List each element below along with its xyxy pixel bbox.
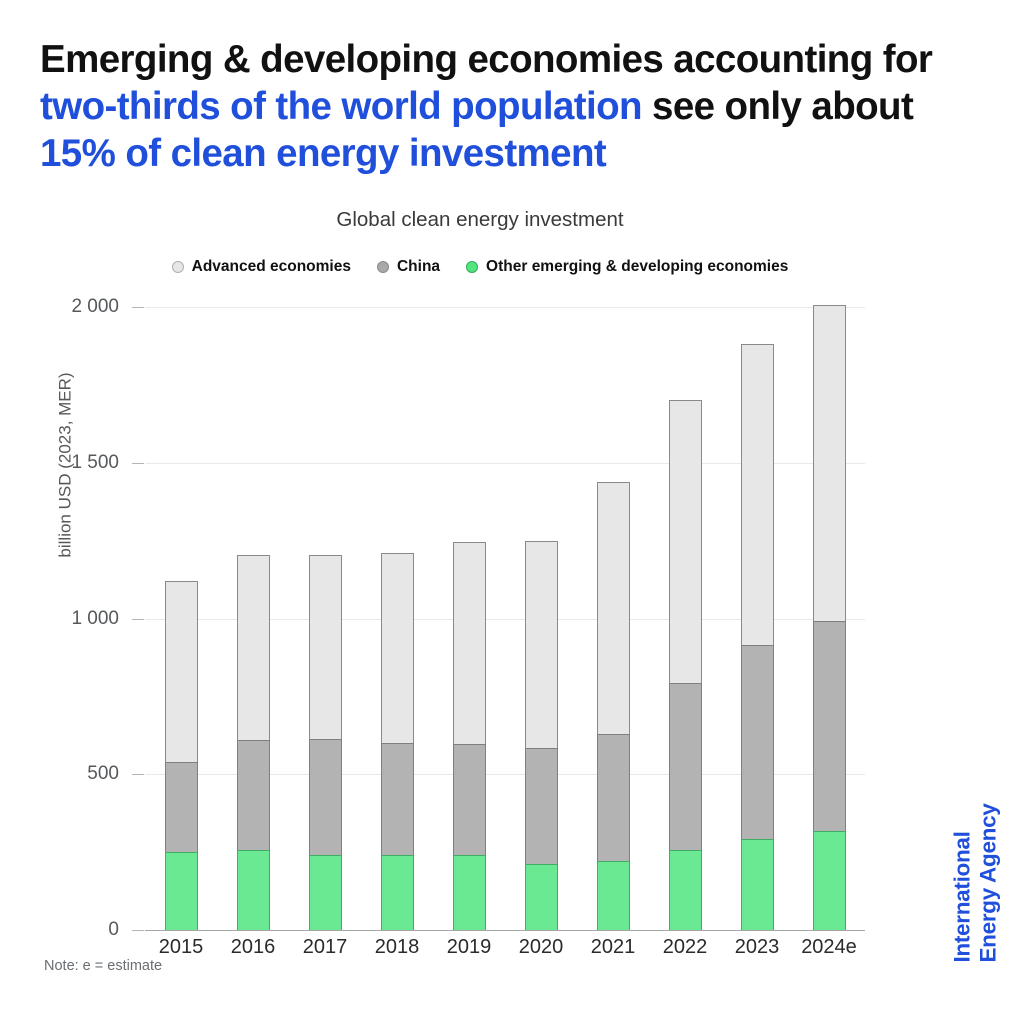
bar-segment-china[interactable] [741,645,774,840]
bar-segment-advanced-economies[interactable] [669,400,702,685]
bar-stack[interactable] [453,542,486,930]
bar-segment-advanced-economies[interactable] [813,305,846,621]
legend-item-other-emerging-developing-economies[interactable]: Other emerging & developing economies [466,258,788,276]
bar-segment-china[interactable] [381,743,414,856]
bar-segment-advanced-economies[interactable] [381,553,414,744]
bar-segment-advanced-economies[interactable] [165,581,198,763]
y-axis-tick-label: 2 000 [71,296,119,318]
x-axis-tick-label: 2019 [447,936,492,959]
x-axis-tick-labels: 2015201620172018201920202021202220232024… [145,936,865,970]
x-axis-line [145,930,865,932]
bar-segment-china[interactable] [669,683,702,851]
page-title: Emerging & developing economies accounti… [40,36,985,177]
x-axis-tick-label: 2024e [801,936,857,959]
bar-segment-other-emerging-developing[interactable] [813,831,846,931]
y-axis-tick-labels: 05001 0001 5002 000 [0,307,132,930]
bar-segment-other-emerging-developing[interactable] [309,855,342,931]
brand-line-2: Energy Agency [976,803,1002,962]
chart-bars [145,307,865,930]
x-axis-tick-label: 2016 [231,936,276,959]
legend-label: Advanced economies [192,258,351,276]
bar-segment-china[interactable] [525,748,558,865]
y-axis-tick-mark [132,619,144,620]
x-axis-tick-label: 2015 [159,936,204,959]
y-axis-tick-mark [132,463,144,464]
bar-segment-china[interactable] [309,739,342,856]
bar-stack[interactable] [237,555,270,930]
headline-highlight-1: two-thirds of the world population [40,85,642,128]
legend-item-advanced-economies[interactable]: Advanced economies [172,258,351,276]
bar-segment-other-emerging-developing[interactable] [741,839,774,931]
bar-stack[interactable] [597,482,630,930]
legend-swatch-icon [377,261,389,273]
legend-label: China [397,258,440,276]
y-axis-tick-mark [132,774,144,775]
bar-stack[interactable] [381,553,414,930]
bar-segment-other-emerging-developing[interactable] [669,850,702,931]
chart-legend: Advanced economies China Other emerging … [0,258,960,276]
bar-stack[interactable] [309,555,342,930]
bar-segment-advanced-economies[interactable] [597,482,630,735]
y-axis-tick-mark [132,307,144,308]
x-axis-tick-label: 2022 [663,936,708,959]
bar-segment-other-emerging-developing[interactable] [453,855,486,931]
bar-segment-advanced-economies[interactable] [237,555,270,742]
bar-segment-china[interactable] [813,621,846,833]
bar-segment-china[interactable] [165,762,198,852]
headline-part-2: see only about [642,85,913,128]
bar-segment-advanced-economies[interactable] [525,541,558,748]
chart-plot-area [145,307,865,930]
bar-segment-other-emerging-developing[interactable] [597,861,630,931]
x-axis-tick-label: 2020 [519,936,564,959]
bar-segment-advanced-economies[interactable] [309,555,342,740]
bar-segment-china[interactable] [237,740,270,851]
y-axis-tick-mark [132,930,144,931]
bar-segment-other-emerging-developing[interactable] [237,850,270,931]
bar-segment-advanced-economies[interactable] [741,344,774,646]
y-axis-tick-label: 1 000 [71,608,119,630]
y-axis-tick-label: 500 [87,763,119,785]
bar-segment-china[interactable] [453,744,486,856]
bar-stack[interactable] [669,400,702,930]
headline-highlight-2: 15% of clean energy investment [40,132,606,175]
legend-swatch-icon [172,261,184,273]
bar-stack[interactable] [165,581,198,930]
bar-stack[interactable] [741,344,774,930]
x-axis-tick-label: 2021 [591,936,636,959]
bar-segment-china[interactable] [597,734,630,862]
infographic-page: Emerging & developing economies accounti… [0,0,1024,1024]
x-axis-tick-label: 2018 [375,936,420,959]
y-axis-tick-label: 1 500 [71,452,119,474]
bar-segment-advanced-economies[interactable] [453,542,486,744]
x-axis-tick-label: 2023 [735,936,780,959]
bar-segment-other-emerging-developing[interactable] [165,852,198,931]
legend-swatch-icon [466,261,478,273]
chart-subtitle: Global clean energy investment [0,208,960,232]
y-axis-tick-label: 0 [108,919,119,941]
bar-segment-other-emerging-developing[interactable] [525,864,558,931]
legend-label: Other emerging & developing economies [486,258,788,276]
x-axis-tick-label: 2017 [303,936,348,959]
bar-segment-other-emerging-developing[interactable] [381,855,414,931]
bar-stack[interactable] [813,305,846,930]
chart-note: Note: e = estimate [44,958,162,974]
legend-item-china[interactable]: China [377,258,440,276]
iea-branding: International Energy Agency [936,752,1016,1014]
headline-part-1: Emerging & developing economies accounti… [40,38,932,81]
bar-stack[interactable] [525,541,558,930]
brand-line-1: International [950,803,976,962]
